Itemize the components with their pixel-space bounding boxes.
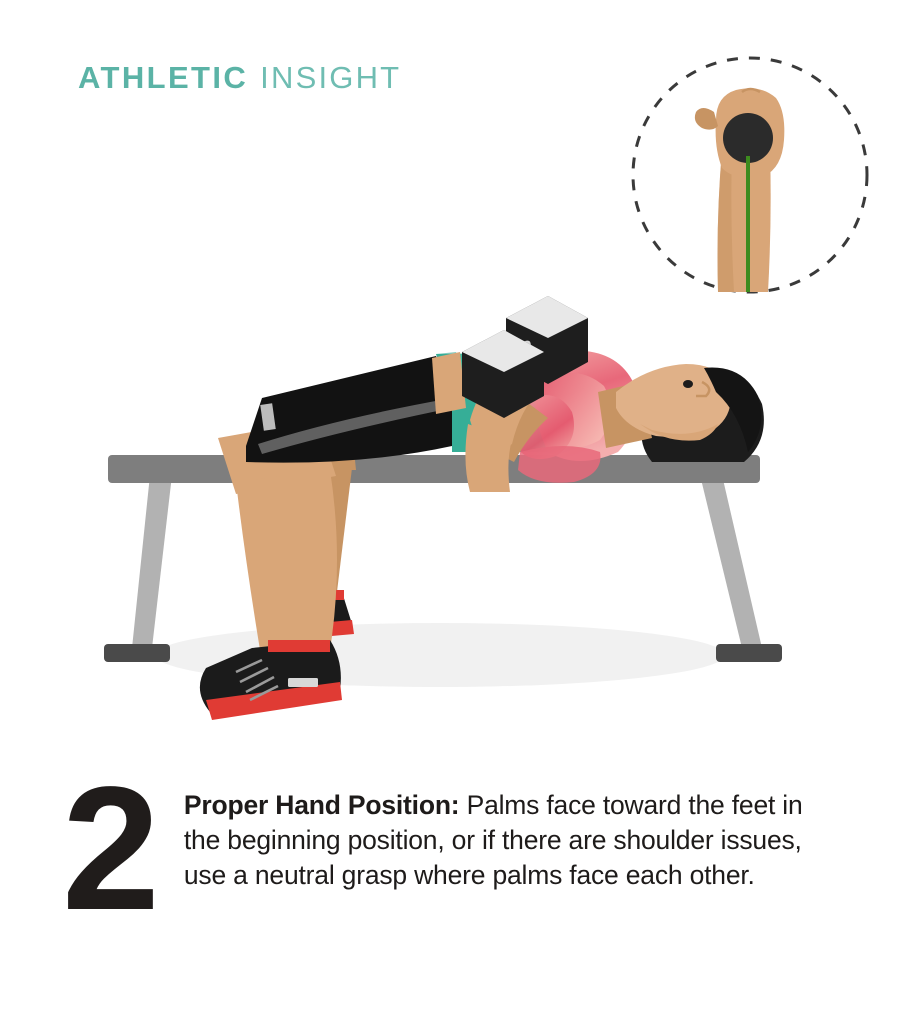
caption-block: 2 Proper Hand Position: Palms face towar… <box>0 772 908 1024</box>
caption-text: Proper Hand Position: Palms face toward … <box>184 788 809 894</box>
step-number: 2 <box>62 774 156 925</box>
exercise-illustration <box>0 0 908 770</box>
inset-handle-dot <box>723 113 773 163</box>
waist <box>432 352 466 414</box>
inset-thumb <box>695 108 718 130</box>
caption-lead: Proper Hand Position: <box>184 790 460 820</box>
bench-foot-right <box>716 644 782 662</box>
grip-detail-inset <box>633 58 867 292</box>
infographic-page: ATHLETIC INSIGHT <box>0 0 908 1024</box>
eye <box>683 380 693 388</box>
bench-leg-right <box>700 475 762 648</box>
figure-shorts <box>246 356 452 463</box>
bench-leg-left <box>132 475 172 648</box>
shoe-brand-tag <box>288 678 318 687</box>
bench-foot-left <box>104 644 170 662</box>
